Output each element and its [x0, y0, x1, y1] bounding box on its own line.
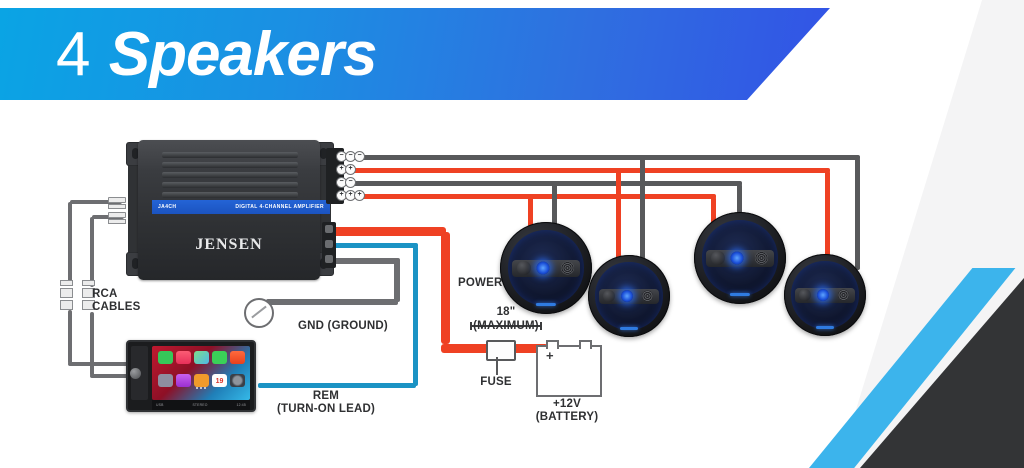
- speaker-tweeter-left: [603, 290, 615, 302]
- inline-fuse[interactable]: [486, 340, 516, 361]
- amp-terminal-pin-neg: −: [354, 151, 365, 162]
- label-power: POWER: [458, 277, 502, 290]
- head-unit-app-grid-row2: 19: [158, 374, 245, 387]
- speaker-led-strip: [620, 327, 638, 330]
- speaker-front-right[interactable]: [588, 255, 670, 337]
- amp-power-terminal-screw: [325, 225, 333, 233]
- status-mode: STEREO: [192, 403, 207, 407]
- amp-heatsink-fin: [162, 182, 298, 188]
- app-icon-podcasts[interactable]: [158, 374, 173, 387]
- wire-power-v: [441, 232, 450, 344]
- speaker-supertweeter-right: [642, 291, 653, 302]
- wire-headunit-preout-v2: [90, 312, 94, 376]
- wire-ground-h1: [330, 258, 400, 264]
- speaker-tweeter-left: [517, 261, 531, 275]
- amp-terminal-pin-pos: +: [345, 164, 356, 175]
- page-dot: [196, 387, 198, 389]
- ground-ring-terminal: [244, 298, 274, 328]
- speaker-supertweeter-right: [838, 290, 849, 301]
- wire-remote-v: [413, 246, 418, 386]
- wire-rca-left-v: [68, 202, 72, 286]
- app-icon-settings[interactable]: [230, 374, 245, 387]
- label-remote-line2: (TURN-ON LEAD): [236, 403, 416, 416]
- amp-heatsink-fin: [162, 162, 298, 168]
- app-icon-messages[interactable]: [212, 351, 227, 364]
- speaker-tweeter-left: [711, 251, 725, 265]
- label-measurement-line1: 18": [452, 306, 560, 319]
- label-battery-line2: (BATTERY): [522, 411, 612, 424]
- amp-heatsink-fin: [162, 152, 298, 158]
- app-icon-audiobooks[interactable]: [194, 374, 209, 387]
- amp-chassis: JA4CH DIGITAL 4-CHANNEL AMPLIFIER JENSEN: [138, 140, 320, 280]
- wire-remote-h2: [258, 383, 416, 388]
- label-rca-cables-line1: RCA: [92, 288, 140, 301]
- speaker-front-left[interactable]: [500, 222, 592, 314]
- wire-ground-v: [394, 260, 400, 302]
- speaker-led-strip: [816, 326, 834, 329]
- wire-speaker2-positive-v: [616, 171, 621, 263]
- label-measurement-max: (MAXIMUM): [452, 320, 560, 333]
- amp-heatsink-fin: [162, 192, 298, 198]
- page-dot: [204, 387, 206, 389]
- speaker-supertweeter-right: [561, 262, 574, 275]
- calendar-day-number: 19: [216, 378, 224, 385]
- speaker-led-center: [817, 289, 829, 301]
- app-icon-now-playing[interactable]: [230, 351, 245, 364]
- wire-speaker3-negative-h: [344, 181, 742, 186]
- app-icon-maps[interactable]: [194, 351, 209, 364]
- wire-speaker1-negative-v: [855, 158, 860, 270]
- head-unit-volume-knob[interactable]: [130, 368, 141, 379]
- label-battery-line1: +12V: [522, 398, 612, 411]
- speaker-rear-left[interactable]: [694, 212, 786, 304]
- wire-rca-right-v: [90, 217, 94, 287]
- amp-terminal-pin-pos: +: [354, 190, 365, 201]
- battery-plus-symbol: +: [546, 351, 554, 361]
- label-remote-line1: REM: [236, 390, 416, 403]
- label-fuse: FUSE: [466, 376, 526, 389]
- wire-headunit-preout-1: [68, 362, 130, 366]
- page-title: 4 Speakers: [56, 16, 376, 94]
- app-icon-siri[interactable]: [176, 374, 191, 387]
- app-icon-music[interactable]: [176, 351, 191, 364]
- wire-power-h1: [330, 227, 446, 236]
- label-rca-cables: RCA CABLES: [92, 288, 140, 313]
- amp-model-code: JA4CH: [158, 204, 176, 210]
- wire-speaker2-negative-v: [640, 158, 645, 264]
- title-word: Speakers: [109, 20, 377, 89]
- amp-strip-description: DIGITAL 4-CHANNEL AMPLIFIER: [235, 204, 324, 210]
- speaker-led-center: [731, 252, 744, 265]
- amp-rca-jack-left: [108, 197, 117, 209]
- battery: +: [536, 345, 602, 397]
- speaker-led-center: [621, 290, 633, 302]
- page-dot: [200, 387, 202, 389]
- head-unit-page-dots[interactable]: [196, 387, 206, 389]
- diagram-canvas: 4 Speakers: [0, 0, 1024, 468]
- amp-rca-jack-right: [108, 212, 117, 224]
- speaker-led-strip: [730, 293, 750, 296]
- amp-brand-logo: JENSEN: [138, 236, 320, 254]
- speaker-rear-right[interactable]: [784, 254, 866, 336]
- fuse-label-leader: [496, 357, 498, 375]
- rca-plug-left: [60, 280, 69, 310]
- status-source: USB: [156, 403, 164, 407]
- head-unit-app-grid-row1: [158, 351, 245, 364]
- wire-headunit-preout-v1: [68, 310, 72, 364]
- amp-terminal-pin-neg: −: [345, 177, 356, 188]
- wire-headunit-preout-2: [90, 374, 130, 378]
- amp-model-strip: JA4CH DIGITAL 4-CHANNEL AMPLIFIER: [152, 200, 330, 214]
- wire-speaker1-positive-h: [344, 168, 830, 173]
- app-icon-phone[interactable]: [158, 351, 173, 364]
- label-battery: +12V (BATTERY): [522, 398, 612, 423]
- speaker-supertweeter-right: [755, 252, 768, 265]
- label-measurement: 18": [452, 306, 560, 319]
- amp-power-terminal-screw: [325, 255, 333, 263]
- amp-heatsink-fin: [162, 172, 298, 178]
- battery-negative-terminal: [579, 340, 592, 349]
- label-rca-cables-line2: CABLES: [92, 301, 140, 314]
- amplifier[interactable]: JA4CH DIGITAL 4-CHANNEL AMPLIFIER JENSEN: [126, 138, 332, 282]
- speaker-tweeter-left: [799, 289, 811, 301]
- label-ground: GND (GROUND): [298, 320, 388, 333]
- title-number: 4: [56, 20, 91, 89]
- label-remote: REM (TURN-ON LEAD): [236, 390, 416, 415]
- speaker-led-center: [537, 262, 550, 275]
- app-icon-calendar[interactable]: 19: [212, 374, 227, 387]
- wire-remote-h1: [330, 243, 418, 248]
- rca-plug-right: [82, 280, 91, 310]
- amp-power-terminal-screw: [325, 240, 333, 248]
- wire-ground-h2: [266, 299, 398, 305]
- wire-speaker1-negative-h: [344, 155, 860, 160]
